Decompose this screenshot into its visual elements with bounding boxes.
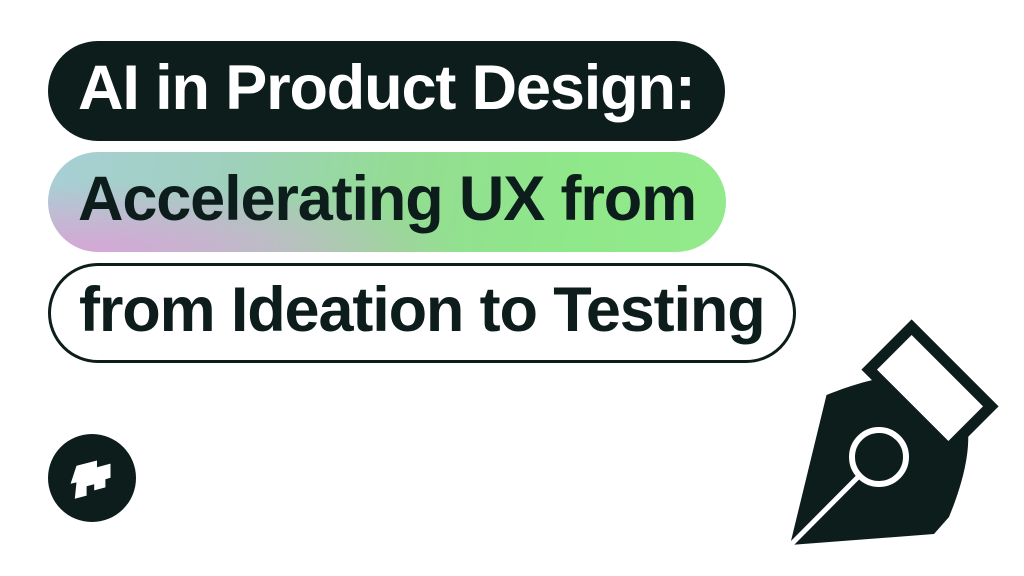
headline-line-2-text: Accelerating UX from xyxy=(78,168,696,231)
pen-nib-illustration xyxy=(762,312,1024,576)
zigzag-mark-icon xyxy=(64,452,120,504)
headline-line-3-text: from Ideation to Testing xyxy=(79,279,765,342)
headline-line-1: AI in Product Design: xyxy=(48,41,725,141)
pen-nib-icon xyxy=(762,312,1024,576)
headline-line-1-text: AI in Product Design: xyxy=(78,57,695,120)
headline-stack: AI in Product Design: Accelerating UX fr… xyxy=(48,41,796,363)
headline-line-3: from Ideation to Testing xyxy=(48,263,796,363)
nib-hole xyxy=(852,430,906,484)
headline-line-2: Accelerating UX from xyxy=(48,152,726,252)
poster-canvas: AI in Product Design: Accelerating UX fr… xyxy=(0,0,1024,576)
brand-logo-badge[interactable] xyxy=(48,434,136,522)
